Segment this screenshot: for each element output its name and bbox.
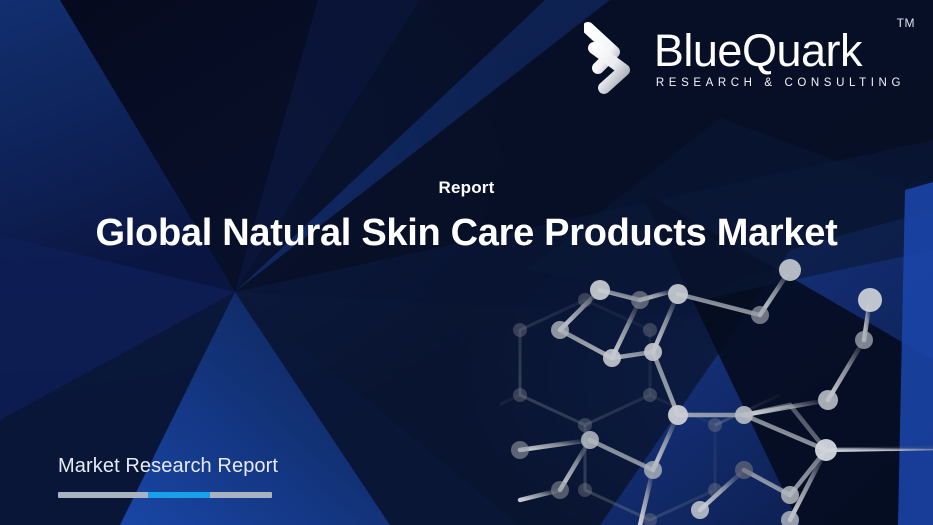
report-cover-page: TM BlueQuark RESEARCH [0,0,933,525]
brand-name: BlueQuark [654,29,862,73]
accent-rule-bar [58,492,272,498]
brand-tagline: RESEARCH & CONSULTING [656,77,905,89]
brand-name-part1: Blue [654,25,742,76]
rule-segment-center [148,492,210,498]
rule-segment-left [58,492,148,498]
page-title: Global Natural Skin Care Products Market [40,212,893,256]
molecule-back-bonds [455,240,780,520]
title-block: Report Global Natural Skin Care Products… [0,178,933,256]
brand-name-part2: Quark [742,25,862,76]
double-chevron-logo-icon [584,18,640,96]
molecule-group [455,233,933,525]
footer-block: Market Research Report [58,455,278,498]
brand-logo[interactable]: BlueQuark RESEARCH & CONSULTING [584,18,905,96]
report-kicker: Report [40,178,893,198]
rule-segment-right [210,492,272,498]
brand-wordmark: BlueQuark RESEARCH & CONSULTING [654,25,905,88]
footer-label: Market Research Report [58,455,278,478]
molecule-back-nodes [513,233,722,525]
